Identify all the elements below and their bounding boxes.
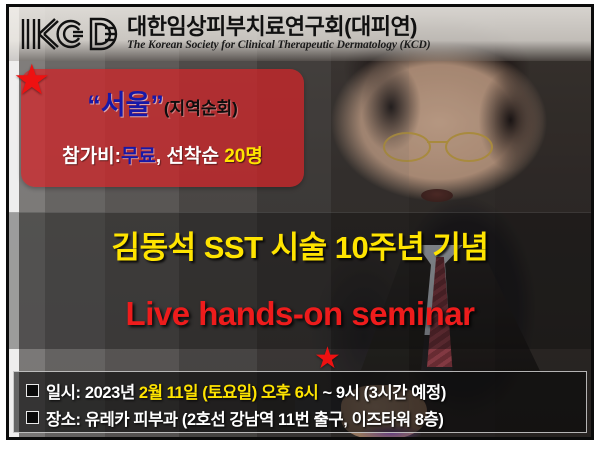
fee-separator: , 선착순 <box>156 146 224 167</box>
fee-label: 참가비: <box>62 146 121 167</box>
organization-subtitle: The Korean Society for Clinical Therapeu… <box>127 39 430 53</box>
fee-capacity: 20명 <box>224 146 263 167</box>
info-value-datetime: 2023년 2월 11일 (토요일) 오후 6시 ~ 9시 (3시간 예정) <box>85 384 446 402</box>
tour-note: (지역순회) <box>164 99 238 118</box>
poster-title-main: 김동석 SST 시술 10주년 기념 <box>9 222 591 267</box>
square-bullet-icon <box>26 384 39 397</box>
square-bullet-icon <box>26 411 39 424</box>
info-plain: 유레카 피부과 (2호선 강남역 11번 출구, 이즈타워 8층) <box>85 411 444 429</box>
organization-name: 대한임상피부치료연구회(대피연) <box>127 15 430 38</box>
city-badge-box: “서울”(지역순회) 참가비:무료, 선착순 20명 <box>21 69 304 187</box>
info-row-venue: 장소: 유레카 피부과 (2호선 강남역 11번 출구, 이즈타워 8층) <box>26 406 578 430</box>
city-line: “서울”(지역순회) <box>21 83 304 122</box>
info-row-datetime: 일시: 2023년 2월 11일 (토요일) 오후 6시 ~ 9시 (3시간 예… <box>26 379 578 403</box>
fee-value: 무료 <box>121 146 156 167</box>
header: 대한임상피부치료연구회(대피연) The Korean Society for … <box>9 7 591 61</box>
star-icon: ★ <box>314 344 341 374</box>
kcd-logo-icon <box>17 13 125 55</box>
seminar-poster: 대한임상피부치료연구회(대피연) The Korean Society for … <box>0 0 600 450</box>
header-text: 대한임상피부치료연구회(대피연) The Korean Society for … <box>127 15 430 53</box>
poster-title-sub: Live hands-on seminar <box>9 295 591 333</box>
info-plain: ~ 9시 (3시간 예정) <box>318 384 446 402</box>
info-plain: 2023년 <box>85 384 139 402</box>
info-value-venue: 유레카 피부과 (2호선 강남역 11번 출구, 이즈타워 8층) <box>85 411 444 429</box>
info-panel: 일시: 2023년 2월 11일 (토요일) 오후 6시 ~ 9시 (3시간 예… <box>13 371 587 433</box>
info-label-datetime: 일시: <box>46 384 85 402</box>
fee-line: 참가비:무료, 선착순 20명 <box>21 141 304 168</box>
city-name: “서울” <box>87 90 164 120</box>
star-icon: ★ <box>13 59 51 101</box>
poster-frame: 대한임상피부치료연구회(대피연) The Korean Society for … <box>6 4 594 440</box>
info-label-venue: 장소: <box>46 411 85 429</box>
info-highlight: 2월 11일 (토요일) 오후 6시 <box>139 384 318 402</box>
